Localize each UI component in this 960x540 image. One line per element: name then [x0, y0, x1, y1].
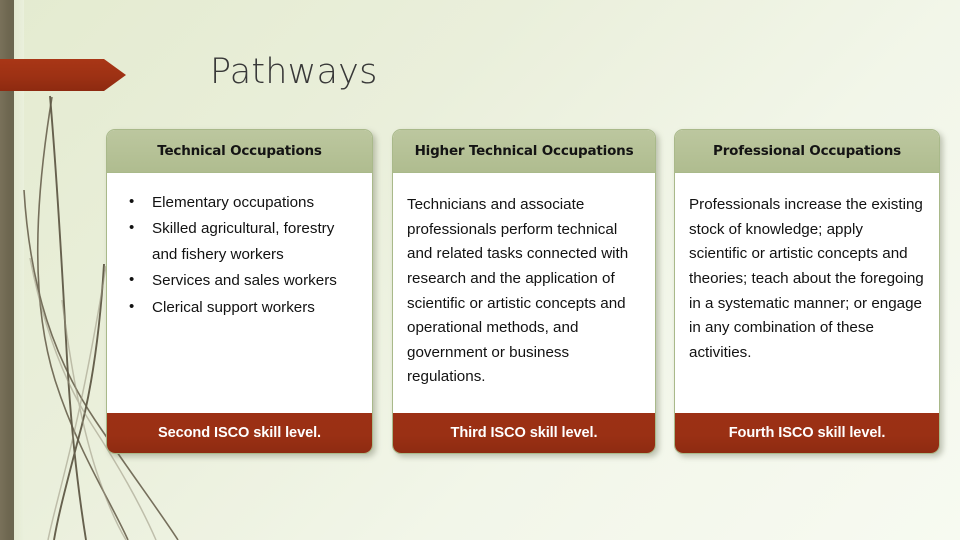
card-header-label: Higher Technical Occupations [415, 143, 634, 159]
card-paragraph: Professionals increase the existing stoc… [689, 193, 925, 365]
card-footer-label: Second ISCO skill level. [158, 425, 321, 441]
card-body: Professionals increase the existing stoc… [675, 173, 939, 413]
list-item: Clerical support workers [117, 295, 362, 321]
card-header-label: Technical Occupations [157, 143, 322, 159]
right-arrow-banner [0, 57, 126, 93]
list-item: Elementary occupations [117, 190, 362, 216]
occupation-list: Elementary occupations Skilled agricultu… [117, 190, 362, 321]
card-paragraph: Technicians and associate professionals … [407, 193, 641, 390]
card-body: Elementary occupations Skilled agricultu… [107, 173, 372, 413]
card-header-label: Professional Occupations [713, 143, 901, 159]
page-title: Pathways [210, 52, 378, 92]
card-header: Higher Technical Occupations [393, 130, 655, 173]
card-body: Technicians and associate professionals … [393, 173, 655, 413]
pathway-card-professional[interactable]: Professional Occupations Professionals i… [674, 129, 940, 454]
list-item: Skilled agricultural, forestry and fishe… [117, 216, 362, 268]
card-footer-label: Fourth ISCO skill level. [729, 425, 886, 441]
card-header: Technical Occupations [107, 130, 372, 173]
card-footer: Fourth ISCO skill level. [675, 413, 939, 453]
card-footer: Third ISCO skill level. [393, 413, 655, 453]
pathway-card-technical[interactable]: Technical Occupations Elementary occupat… [106, 129, 373, 454]
card-footer: Second ISCO skill level. [107, 413, 372, 453]
card-header: Professional Occupations [675, 130, 939, 173]
list-item: Services and sales workers [117, 268, 362, 294]
slide-canvas: Pathways Technical Occupations Elementar… [0, 0, 960, 540]
pathway-card-higher-technical[interactable]: Higher Technical Occupations Technicians… [392, 129, 656, 454]
card-footer-label: Third ISCO skill level. [451, 425, 598, 441]
